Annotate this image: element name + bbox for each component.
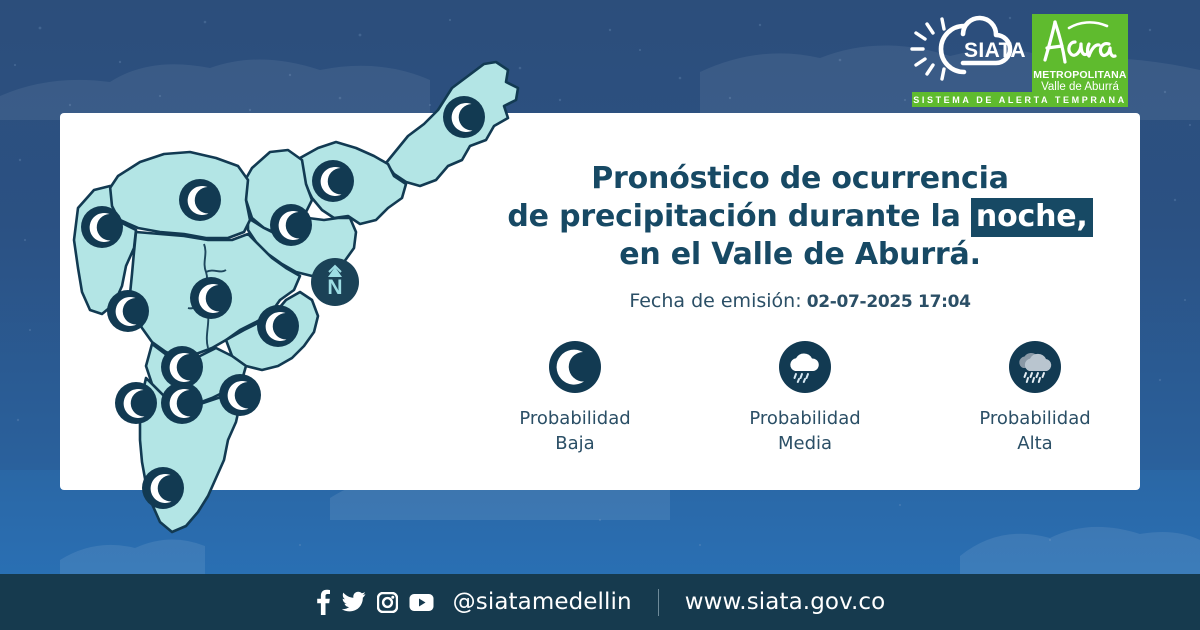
area-logo-line1: METROPOLITANA [1033,70,1126,81]
title-line-2-text: de precipitación durante la [507,199,960,234]
legend-alta-line2: Alta [960,431,1110,456]
legend-alta-line1: Probabilidad [960,406,1110,431]
cloud-rain-moon-icon [779,341,831,393]
tagline-text: SISTEMA DE ALERTA TEMPRANA [913,95,1126,105]
map-marker-moon[interactable] [142,467,184,509]
header-logos: SIATA METROPOLITANA Valle de Aburrá [906,14,1128,102]
map-marker-moon[interactable] [257,305,299,347]
map-marker-moon[interactable] [107,290,149,332]
twitter-icon[interactable] [342,591,366,613]
map-svg: N [56,48,526,568]
forecast-panel: Pronóstico de ocurrencia de precipitació… [470,160,1130,456]
legend-media-line2: Media [730,431,880,456]
emission-date: Fecha de emisión: 02-07-2025 17:04 [470,290,1130,312]
legend-label-media: Probabilidad Media [730,406,880,456]
instagram-icon[interactable] [377,592,398,613]
map-marker-moon[interactable] [161,346,203,388]
siata-logo-icon: SIATA [906,14,1026,84]
website-url[interactable]: www.siata.gov.co [685,589,886,615]
map-marker-moon[interactable] [115,382,157,424]
map-marker-moon[interactable] [270,204,312,246]
page-title: Pronóstico de ocurrencia de precipitació… [470,160,1130,274]
legend-media-line1: Probabilidad [730,406,880,431]
map-marker-moon[interactable] [219,374,261,416]
title-highlight-noche: noche, [971,198,1093,237]
moon-icon [549,341,601,393]
facebook-icon[interactable] [315,589,331,615]
legend-item-baja: Probabilidad Baja [500,341,650,456]
map-marker-moon[interactable] [443,96,485,138]
svg-text:SIATA: SIATA [964,39,1026,62]
area-script-icon [1035,16,1125,70]
title-line-2: de precipitación durante la noche, [470,198,1130,236]
map-marker-moon[interactable] [312,160,354,202]
tagline-banner: SISTEMA DE ALERTA TEMPRANA [912,92,1128,107]
map-marker-moon[interactable] [81,206,123,248]
title-line-1: Pronóstico de ocurrencia [470,160,1130,198]
compass-label: N [327,276,342,299]
legend-label-alta: Probabilidad Alta [960,406,1110,456]
cloud-heavy-rain-icon [1009,341,1061,393]
social-icons [315,589,434,615]
probability-legend: Probabilidad Baja [470,341,1130,456]
area-metropolitana-logo: METROPOLITANA Valle de Aburrá [1032,14,1128,102]
valle-de-aburra-map: N [56,48,526,568]
map-marker-moon[interactable] [190,277,232,319]
footer-bar: @siatamedellin www.siata.gov.co [0,574,1200,630]
map-marker-moon[interactable] [161,382,203,424]
social-handle[interactable]: @siatamedellin [453,589,632,615]
title-line-3: en el Valle de Aburrá. [470,236,1130,274]
footer-divider [658,589,659,616]
map-marker-moon[interactable] [179,179,221,221]
legend-baja-line1: Probabilidad [500,406,650,431]
legend-baja-line2: Baja [500,431,650,456]
legend-label-baja: Probabilidad Baja [500,406,650,456]
infographic-root: SIATA METROPOLITANA Valle de Aburrá SIST… [0,0,1200,630]
compass-north-marker: N [311,258,359,306]
emission-date-label: Fecha de emisión: [629,290,801,312]
emission-date-value: 02-07-2025 17:04 [807,292,971,312]
legend-item-media: Probabilidad Media [730,341,880,456]
youtube-icon[interactable] [409,593,434,612]
legend-item-alta: Probabilidad Alta [960,341,1110,456]
